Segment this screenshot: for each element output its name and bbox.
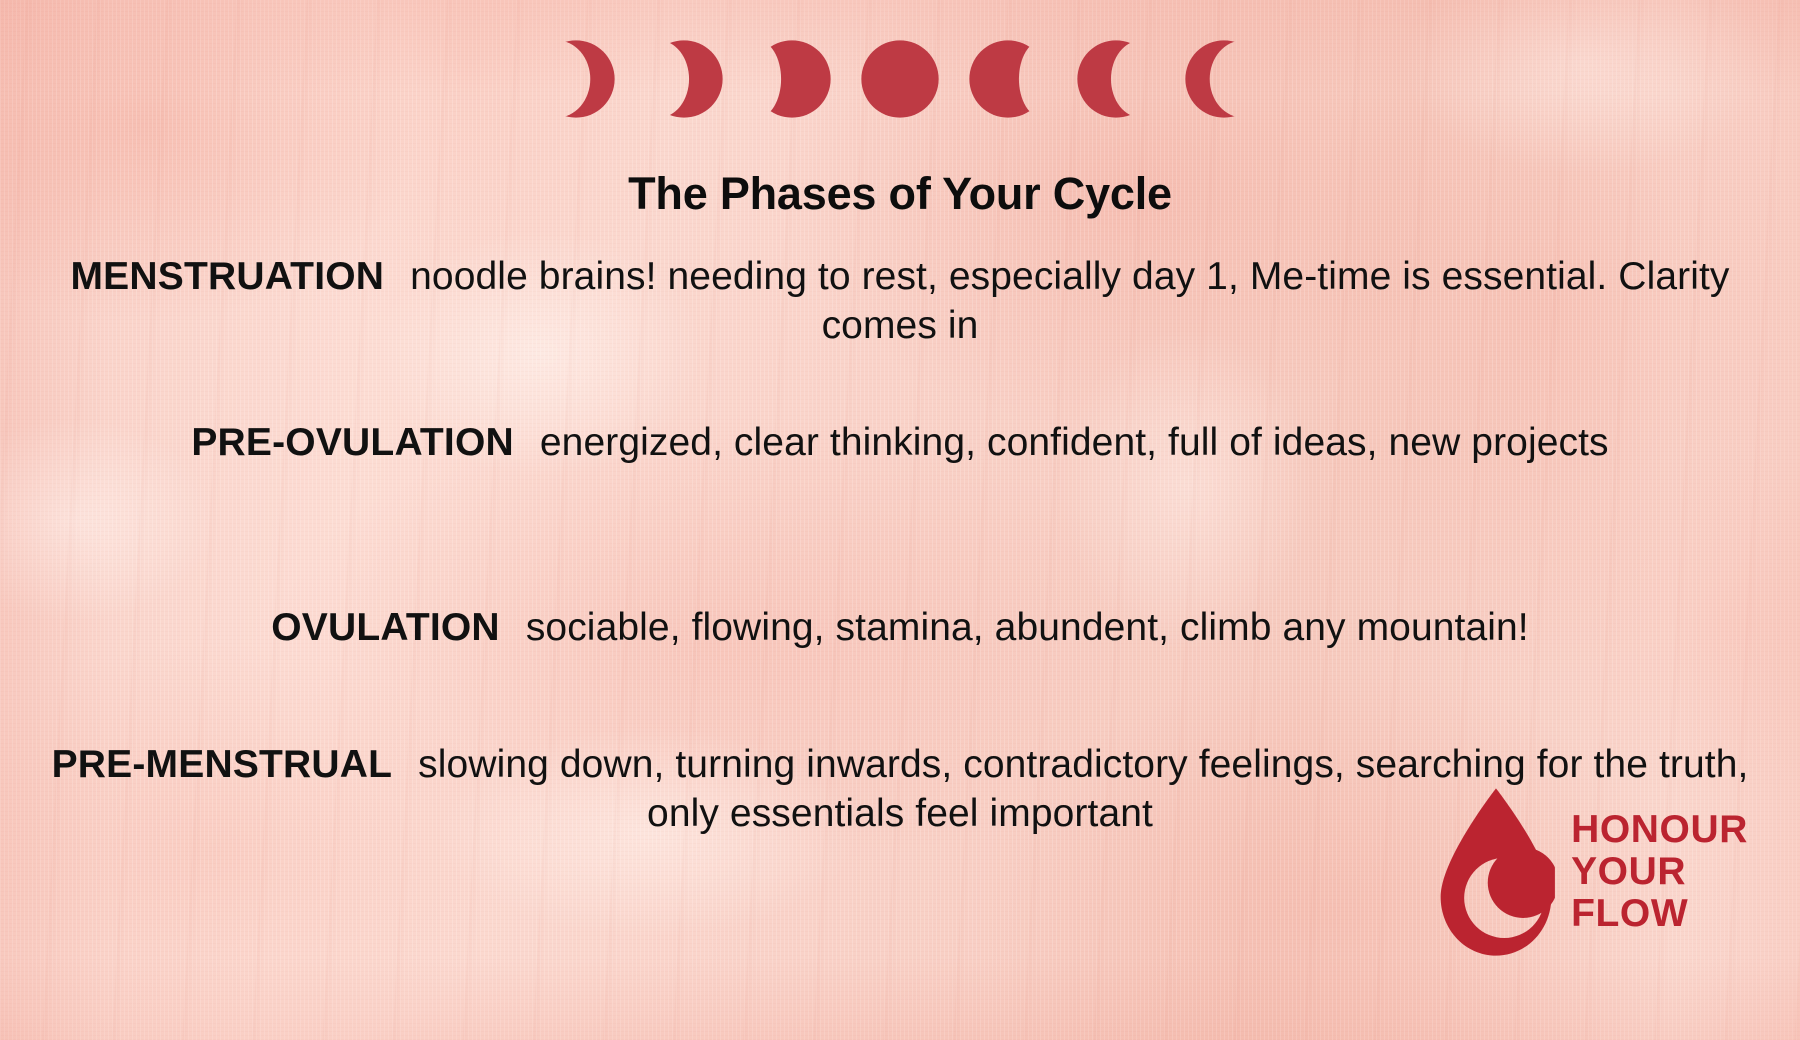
moon-full-icon bbox=[858, 36, 942, 122]
moon-waning-gibbous-icon bbox=[966, 36, 1050, 122]
moon-waxing-crescent-thin-icon bbox=[534, 36, 618, 122]
moon-waxing-crescent-icon bbox=[642, 36, 726, 122]
phase-description-pre-ovulation: energized, clear thinking, confident, fu… bbox=[540, 421, 1609, 464]
poster-canvas: The Phases of Your Cycle MENSTRUATIONnoo… bbox=[0, 0, 1800, 1040]
brand-logo-line-2: YOUR bbox=[1571, 851, 1748, 893]
phase-label-pre-menstrual: PRE-MENSTRUAL bbox=[52, 743, 393, 786]
brand-logo: HONOUR YOUR FLOW bbox=[1437, 786, 1748, 958]
brand-logo-line-1: HONOUR bbox=[1571, 809, 1748, 851]
moon-waning-crescent-icon bbox=[1074, 36, 1158, 122]
phase-block-ovulation: OVULATIONsociable, flowing, stamina, abu… bbox=[0, 603, 1800, 652]
moon-waxing-gibbous-icon bbox=[750, 36, 834, 122]
phase-label-pre-ovulation: PRE-OVULATION bbox=[191, 421, 514, 464]
blood-drop-crescent-icon bbox=[1437, 786, 1555, 958]
brand-logo-text: HONOUR YOUR FLOW bbox=[1571, 809, 1748, 935]
phase-description-menstruation: noodle brains! needing to rest, especial… bbox=[410, 255, 1729, 347]
phase-description-ovulation: sociable, flowing, stamina, abundent, cl… bbox=[526, 606, 1529, 649]
moon-phase-strip bbox=[0, 36, 1800, 122]
brand-logo-line-3: FLOW bbox=[1571, 893, 1748, 935]
moon-waning-crescent-thin-icon bbox=[1182, 36, 1266, 122]
page-title: The Phases of Your Cycle bbox=[0, 168, 1800, 220]
phase-block-pre-ovulation: PRE-OVULATIONenergized, clear thinking, … bbox=[0, 418, 1800, 467]
phase-label-ovulation: OVULATION bbox=[271, 606, 500, 649]
phase-label-menstruation: MENSTRUATION bbox=[70, 255, 384, 298]
phase-block-menstruation: MENSTRUATIONnoodle brains! needing to re… bbox=[0, 252, 1800, 350]
